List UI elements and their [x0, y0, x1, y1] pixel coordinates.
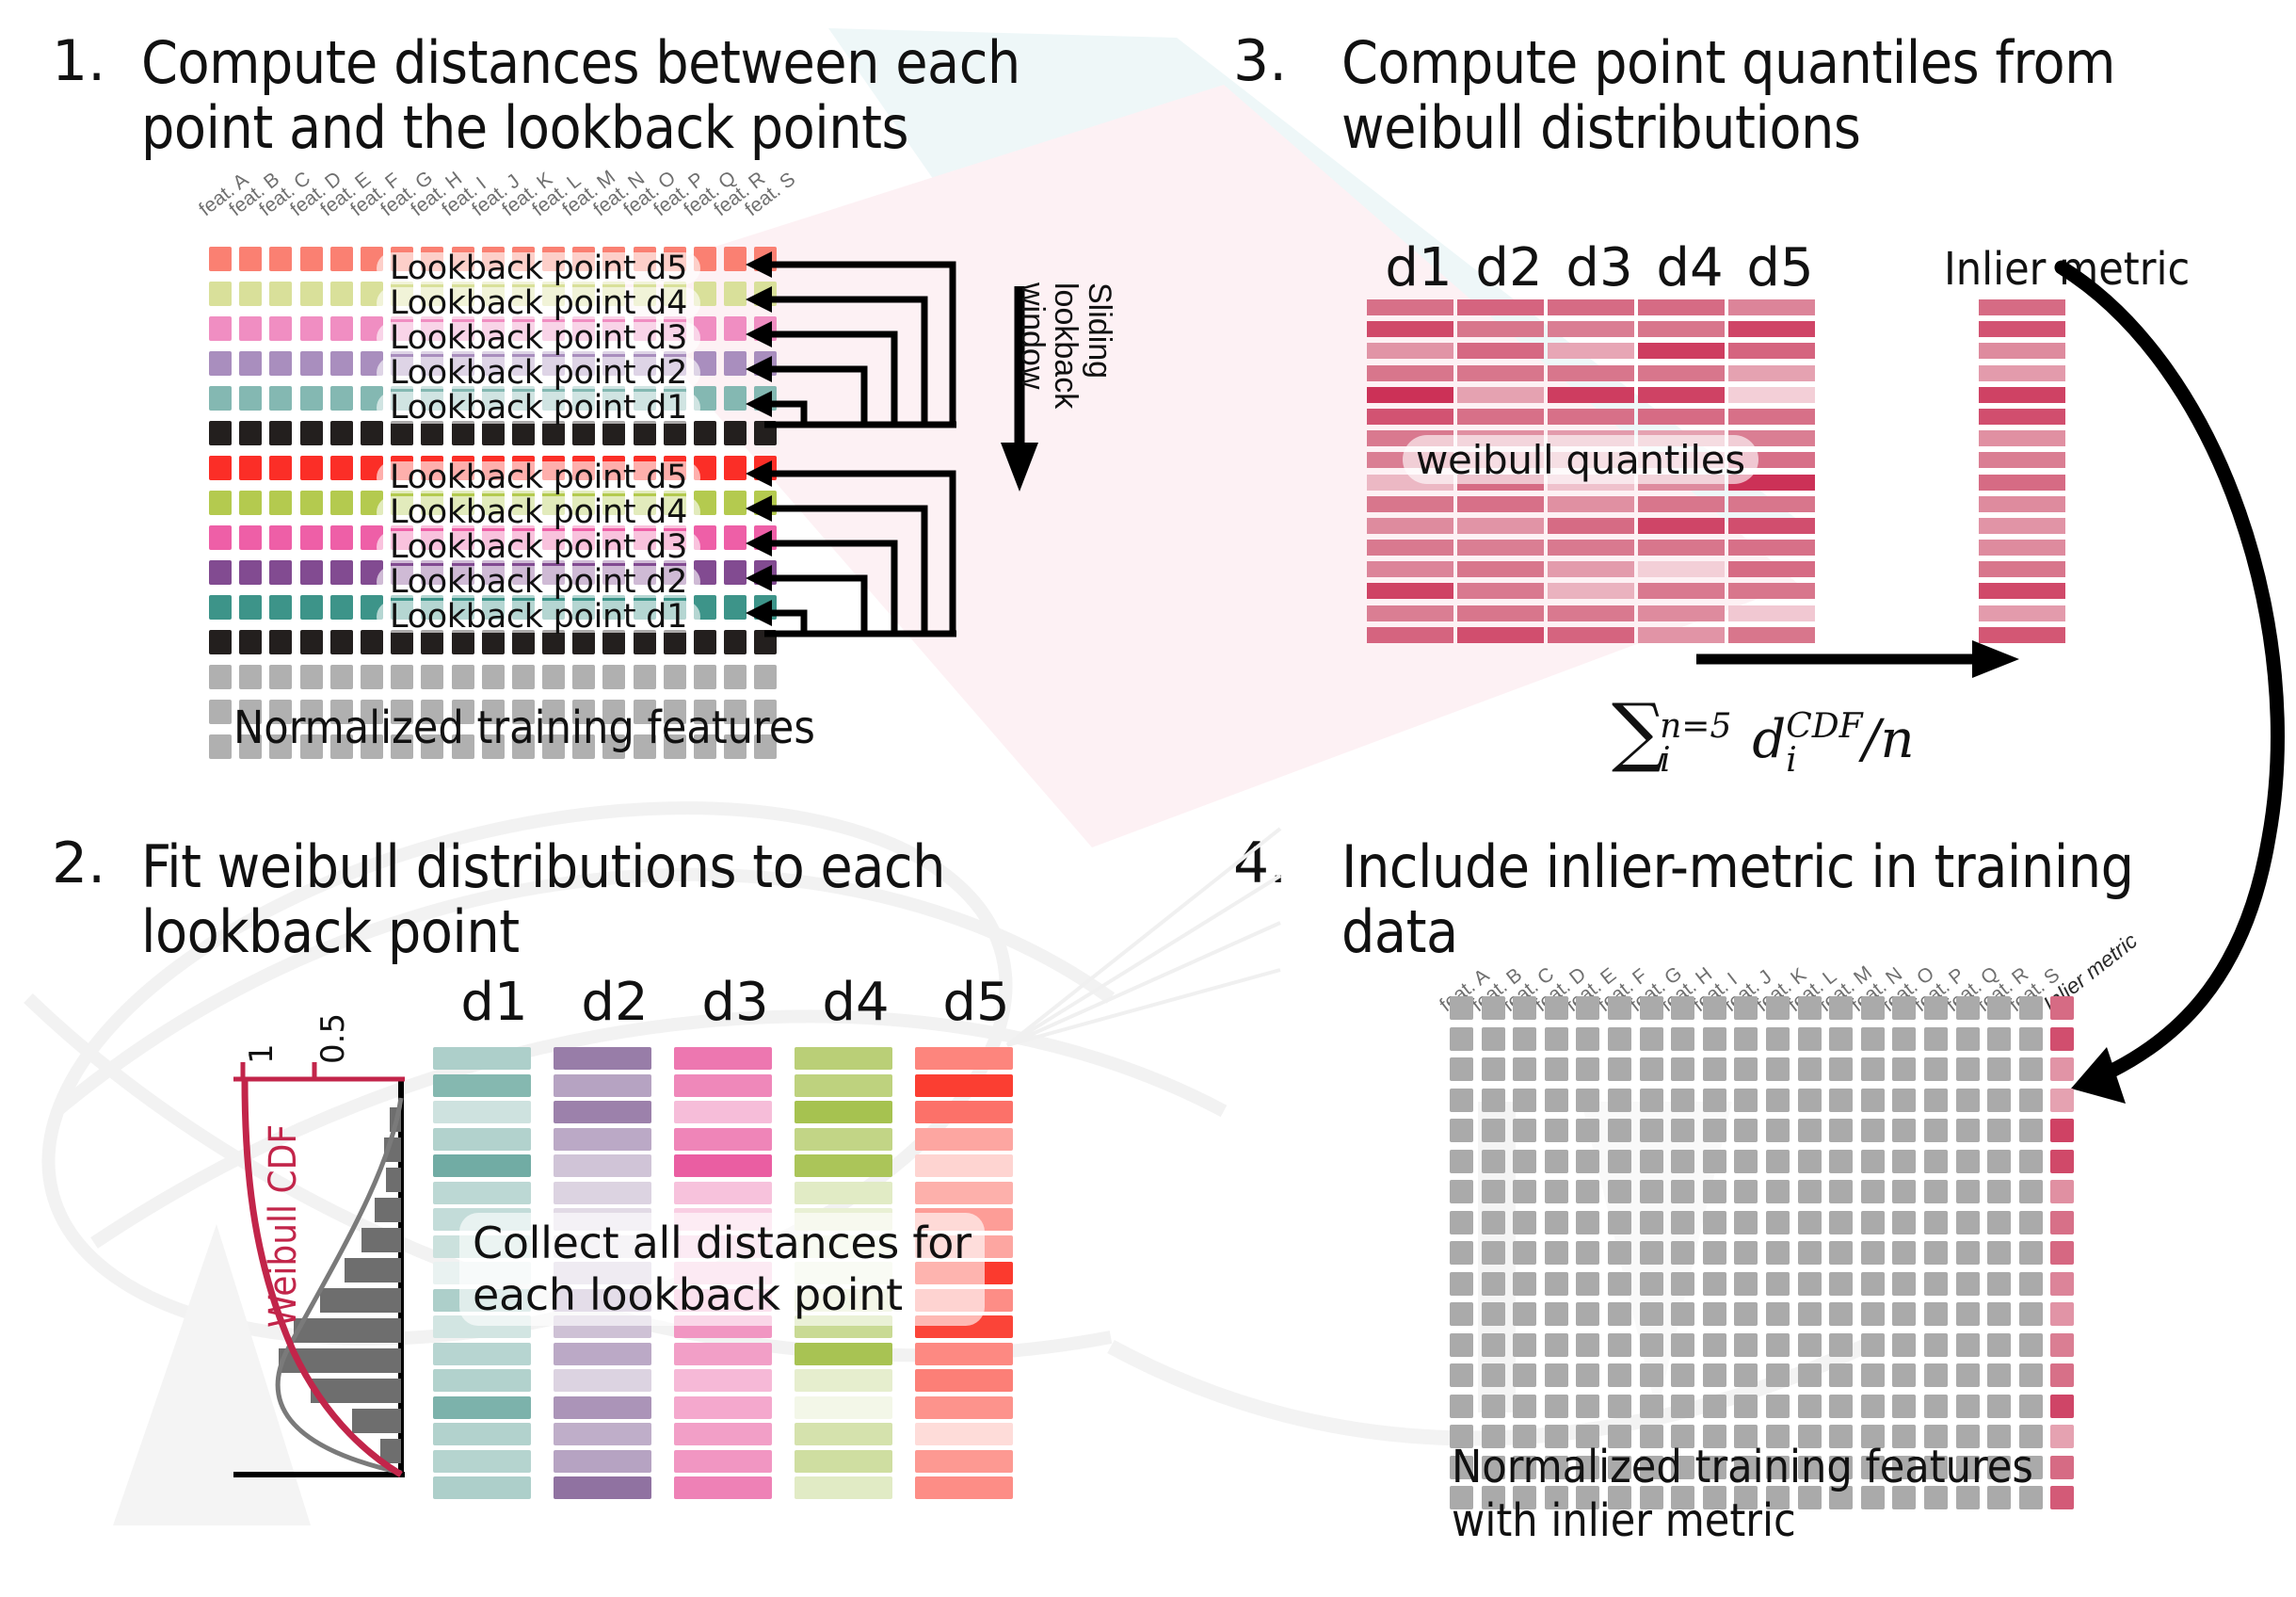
panel4-feature-cell: [1640, 1119, 1663, 1142]
panel4-feature-cell: [1987, 1057, 2011, 1081]
panel4-inlier-cell: [2050, 1180, 2074, 1203]
panel4-feature-cell: [1924, 1363, 1948, 1387]
panel4-feature-cell: [1956, 1027, 1980, 1051]
panel4-feature-cell: [1703, 1363, 1726, 1387]
panel4-feature-cell: [1766, 1057, 1790, 1081]
panel4-feature-cell: [1766, 1363, 1790, 1387]
panel4-feature-cell: [1892, 1057, 1916, 1081]
panel4-feature-cell: [1924, 996, 1948, 1020]
panel4-feature-cell: [1608, 1363, 1631, 1387]
panel4-feature-cell: [1450, 1241, 1473, 1265]
panel4-feature-cell: [1608, 1027, 1631, 1051]
panel4-feature-cell: [1734, 1027, 1758, 1051]
panel4-inlier-cell: [2050, 1241, 2074, 1265]
panel4-feature-cell: [1734, 1395, 1758, 1418]
panel4-feature-cell: [1513, 1180, 1536, 1203]
panel4-feature-cell: [1766, 1241, 1790, 1265]
panel4-feature-cell: [1640, 1211, 1663, 1234]
panel4-feature-cell: [1513, 1241, 1536, 1265]
panel4-feature-cell: [1640, 1302, 1663, 1326]
panel4-feature-cell: [1861, 996, 1885, 1020]
panel4-feature-cell: [2019, 1363, 2043, 1387]
panel4-feature-cell: [1450, 1211, 1473, 1234]
panel4-feature-cell: [1861, 1395, 1885, 1418]
panel4-feature-cell: [1956, 1057, 1980, 1081]
panel4-feature-cell: [1608, 1211, 1631, 1234]
panel4-feature-cell: [1924, 1119, 1948, 1142]
panel4-feature-cell: [1545, 1302, 1568, 1326]
panel4-feature-cell: [1861, 1272, 1885, 1296]
panel4-feature-cell: [1671, 1395, 1694, 1418]
panel4-inlier-cell: [2050, 1027, 2074, 1051]
panel4-feature-cell: [1640, 1363, 1663, 1387]
panel4-feature-cell: [2019, 1089, 2043, 1112]
panel4-feature-cell: [1608, 1119, 1631, 1142]
panel4-feature-cell: [1924, 1211, 1948, 1234]
panel4-feature-cell: [1545, 1395, 1568, 1418]
panel4-feature-cell: [1829, 1057, 1853, 1081]
panel4-feature-cell: [1987, 1180, 2011, 1203]
panel4-feature-cell: [1640, 1272, 1663, 1296]
panel4-feature-cell: [1798, 1027, 1822, 1051]
panel4-feature-cell: [1703, 1272, 1726, 1296]
panel4-feature-cell: [1545, 1057, 1568, 1081]
panel4-feature-cell: [1608, 1089, 1631, 1112]
panel4-feature-cell: [1892, 1119, 1916, 1142]
panel4-feature-cell: [1545, 1180, 1568, 1203]
panel4-feature-cell: [1734, 1241, 1758, 1265]
panel4-feature-cell: [1671, 1150, 1694, 1173]
panel4-inlier-cell: [2050, 996, 2074, 1020]
panel4-feature-cell: [1545, 1241, 1568, 1265]
panel4-feature-cell: [1671, 1241, 1694, 1265]
panel4-feature-cell: [1956, 1241, 1980, 1265]
panel4-feature-cell: [1671, 1333, 1694, 1357]
panel4-feature-cell: [1450, 996, 1473, 1020]
panel4-feature-cell: [1513, 1119, 1536, 1142]
panel4-feature-cell: [1450, 1119, 1473, 1142]
panel4-feature-cell: [1450, 1180, 1473, 1203]
panel4-feature-cell: [1545, 1119, 1568, 1142]
panel4-feature-cell: [1829, 1241, 1853, 1265]
panel4-feature-cell: [1450, 1363, 1473, 1387]
panel4-feature-cell: [1892, 1302, 1916, 1326]
panel4-feature-cell: [1576, 1302, 1599, 1326]
panel4-feature-cell: [1640, 1150, 1663, 1173]
panel4-feature-cell: [1703, 1057, 1726, 1081]
panel4-feature-cell: [1671, 1089, 1694, 1112]
panel4-feature-cell: [1829, 1180, 1853, 1203]
panel4-feature-cell: [1450, 1150, 1473, 1173]
panel4-feature-cell: [1924, 1027, 1948, 1051]
panel4-feature-cell: [2019, 1119, 2043, 1142]
panel4-feature-cell: [1545, 1150, 1568, 1173]
panel4-feature-cell: [1482, 1057, 1505, 1081]
panel4-feature-cell: [1703, 1027, 1726, 1051]
panel4-feature-cell: [1703, 1180, 1726, 1203]
panel4-feature-cell: [1829, 1089, 1853, 1112]
panel4-feature-cell: [1798, 1241, 1822, 1265]
panel4-feature-cell: [1513, 1150, 1536, 1173]
panel4-feature-cell: [1924, 1057, 1948, 1081]
panel4-feature-cell: [1987, 1363, 2011, 1387]
panel4-feature-cell: [1892, 1150, 1916, 1173]
panel4-feature-cell: [2019, 1395, 2043, 1418]
panel4-feature-cell: [1545, 1363, 1568, 1387]
panel4-feature-cell: [1703, 1333, 1726, 1357]
panel4-inlier-cell: [2050, 1425, 2074, 1448]
panel4-caption: Normalized training features with inlier…: [1452, 1441, 2033, 1547]
panel4-feature-cell: [1766, 1211, 1790, 1234]
panel4-feature-cell: [1892, 1180, 1916, 1203]
panel4-feature-cell: [1734, 1272, 1758, 1296]
panel4-feature-cell: [1829, 1150, 1853, 1173]
panel4-feature-cell: [1671, 1180, 1694, 1203]
panel4-feature-cell: [1798, 1150, 1822, 1173]
panel4-feature-cell: [1513, 1333, 1536, 1357]
panel4-feature-cell: [1766, 1119, 1790, 1142]
panel4-feature-cell: [1482, 1395, 1505, 1418]
panel4-feature-cell: [1482, 1211, 1505, 1234]
panel4-feature-cell: [1608, 1057, 1631, 1081]
panel4-feature-cell: [1640, 1057, 1663, 1081]
panel4-feature-cell: [1924, 1395, 1948, 1418]
panel4-feature-cell: [1450, 1395, 1473, 1418]
panel4-feature-cell: [1766, 1089, 1790, 1112]
panel4-feature-cell: [1734, 1119, 1758, 1142]
panel4-inlier-cell: [2050, 1057, 2074, 1081]
panel4-inlier-cell: [2050, 1395, 2074, 1418]
panel4-feature-cell: [2019, 1150, 2043, 1173]
panel4-feature-cell: [1640, 1395, 1663, 1418]
panel4-feature-cell: [1576, 1395, 1599, 1418]
panel4-feature-cell: [1956, 1395, 1980, 1418]
panel4-feature-cell: [1924, 1333, 1948, 1357]
panel4-feature-cell: [1482, 1302, 1505, 1326]
panel4-feature-cell: [1734, 1333, 1758, 1357]
panel4-feature-cell: [1482, 996, 1505, 1020]
panel4-feature-cell: [1798, 1180, 1822, 1203]
panel4-feature-cell: [1892, 1027, 1916, 1051]
panel4-feature-cell: [1766, 1180, 1790, 1203]
panel4-feature-cell: [1640, 996, 1663, 1020]
panel4-feature-cell: [1734, 996, 1758, 1020]
panel4-feature-cell: [1987, 1302, 2011, 1326]
panel4-feature-cell: [2019, 1241, 2043, 1265]
panel4-feature-cell: [1766, 1395, 1790, 1418]
panel4-feature-cell: [1482, 1027, 1505, 1051]
panel4-feature-cell: [1924, 1150, 1948, 1173]
panel4-feature-cell: [2019, 996, 2043, 1020]
panel4-feature-cell: [1545, 1272, 1568, 1296]
panel4-feature-cell: [2019, 1180, 2043, 1203]
panel4-feature-cell: [1703, 1119, 1726, 1142]
panel4-feature-cell: [1671, 1272, 1694, 1296]
panel4-feature-cell: [1956, 1180, 1980, 1203]
panel4-feature-cell: [1734, 1057, 1758, 1081]
panel4-feature-cell: [1861, 1333, 1885, 1357]
panel4-feature-cell: [1924, 1180, 1948, 1203]
panel4-feature-cell: [1987, 1150, 2011, 1173]
panel4-feature-cell: [1513, 1211, 1536, 1234]
panel4-feature-cell: [1482, 1363, 1505, 1387]
panel4-feature-cell: [1608, 1333, 1631, 1357]
panel4-feature-cell: [1861, 1057, 1885, 1081]
panel4-feature-cell: [1576, 1089, 1599, 1112]
panel4-feature-cell: [1671, 1057, 1694, 1081]
panel4-feature-cell: [1829, 1395, 1853, 1418]
panel4-feature-cell: [1798, 1211, 1822, 1234]
panel4-feature-cell: [1482, 1180, 1505, 1203]
panel4-feature-cell: [1703, 1241, 1726, 1265]
panel4-feature-cell: [1450, 1057, 1473, 1081]
panel4-feature-cell: [1640, 1241, 1663, 1265]
panel4-feature-cell: [2019, 1057, 2043, 1081]
panel4-feature-cell: [1513, 1363, 1536, 1387]
panel4-feature-cell: [1798, 1272, 1822, 1296]
panel4-feature-cell: [1798, 1089, 1822, 1112]
panel4-feature-cell: [1576, 1119, 1599, 1142]
panel4-feature-cell: [1987, 1089, 2011, 1112]
panel4-feature-cell: [1608, 1302, 1631, 1326]
panel4-feature-cell: [1576, 1363, 1599, 1387]
panel4-feature-cell: [1513, 1272, 1536, 1296]
panel4-feature-cell: [1608, 1241, 1631, 1265]
panel4-feature-cell: [2019, 1027, 2043, 1051]
panel4-inlier-cell: [2050, 1150, 2074, 1173]
panel4-feature-cell: [1671, 1363, 1694, 1387]
panel4-feature-cell: [1640, 1180, 1663, 1203]
panel4-feature-cell: [1829, 1302, 1853, 1326]
panel4-feature-cell: [1766, 996, 1790, 1020]
panel4-feature-cell: [1987, 1395, 2011, 1418]
panel4-feature-cell: [1576, 1150, 1599, 1173]
panel4-feature-cell: [1608, 1180, 1631, 1203]
panel4-inlier-cell: [2050, 1089, 2074, 1112]
panel4-feature-cell: [1956, 1333, 1980, 1357]
panel4-feature-cell: [1987, 1211, 2011, 1234]
panel4-feature-cell: [1766, 1272, 1790, 1296]
panel4-feature-cell: [1892, 996, 1916, 1020]
panel4-feature-cell: [1608, 996, 1631, 1020]
panel4-feature-cell: [1798, 1333, 1822, 1357]
panel4-feature-cell: [1829, 1363, 1853, 1387]
panel4-feature-cell: [2019, 1272, 2043, 1296]
panel4-feature-cell: [1734, 1180, 1758, 1203]
panel4-inlier-cell: [2050, 1333, 2074, 1357]
panel4-feature-cell: [1545, 1027, 1568, 1051]
panel4-feature-cell: [1829, 1211, 1853, 1234]
panel4-feature-cell: [1513, 1027, 1536, 1051]
panel4-feature-cell: [1987, 1119, 2011, 1142]
panel4-feature-cell: [1608, 1272, 1631, 1296]
panel4-feature-cell: [1861, 1027, 1885, 1051]
panel4-feature-cell: [1734, 1302, 1758, 1326]
panel4-feature-cell: [1956, 1211, 1980, 1234]
panel4-feature-cell: [1798, 1302, 1822, 1326]
panel4-feature-cell: [1576, 1333, 1599, 1357]
panel4-feature-cell: [1734, 1089, 1758, 1112]
panel4-feature-cell: [1861, 1089, 1885, 1112]
panel4-feature-cell: [1608, 1150, 1631, 1173]
panel4-feature-cell: [1956, 1302, 1980, 1326]
panel4-inlier-cell: [2050, 1119, 2074, 1142]
panel4-feature-cell: [1892, 1241, 1916, 1265]
panel4-feature-cell: [1576, 1211, 1599, 1234]
panel4-feature-cell: [1829, 1333, 1853, 1357]
panel4-feature-cell: [1987, 996, 2011, 1020]
panel4-feature-cell: [1576, 996, 1599, 1020]
panel4-feature-cell: [1703, 1395, 1726, 1418]
panel4-feature-cell: [1956, 1119, 1980, 1142]
panel4-feature-cell: [1513, 1395, 1536, 1418]
panel4-feature-cell: [1861, 1363, 1885, 1387]
panel4-feature-cell: [1545, 996, 1568, 1020]
panel4-feature-cell: [1640, 1027, 1663, 1051]
panel4-inlier-cell: [2050, 1211, 2074, 1234]
panel4-feature-cell: [1576, 1241, 1599, 1265]
panel4-feature-cell: [1956, 1089, 1980, 1112]
panel4-feature-cell: [1671, 1119, 1694, 1142]
panel4-feature-cell: [1513, 1302, 1536, 1326]
panel4-feature-cell: [1513, 1057, 1536, 1081]
panel4-feature-cell: [1861, 1119, 1885, 1142]
panel4-feature-cell: [1703, 1150, 1726, 1173]
panel4-feature-cell: [1766, 1333, 1790, 1357]
panel4-inlier-cell: [2050, 1272, 2074, 1296]
panel4-feature-cell: [1987, 1272, 2011, 1296]
panel4-feature-cell: [1829, 1119, 1853, 1142]
panel4-inlier-cell: [2050, 1486, 2074, 1509]
panel4-feature-cell: [1892, 1333, 1916, 1357]
panel4-feature-cell: [1924, 1302, 1948, 1326]
panel4-feature-cell: [1924, 1272, 1948, 1296]
panel4-feature-cell: [1987, 1333, 2011, 1357]
panel4-feature-cell: [1924, 1241, 1948, 1265]
panel-4: feat. Afeat. Bfeat. Cfeat. Dfeat. Efeat.…: [0, 0, 2296, 1597]
panel4-feature-cell: [1861, 1241, 1885, 1265]
panel4-feature-cell: [1956, 1272, 1980, 1296]
panel4-feature-cell: [1892, 1272, 1916, 1296]
panel4-feature-cell: [2019, 1333, 2043, 1357]
panel4-feature-cell: [1576, 1180, 1599, 1203]
panel4-feature-cell: [1798, 1363, 1822, 1387]
panel4-feature-cell: [1513, 1089, 1536, 1112]
panel4-feature-cell: [1861, 1211, 1885, 1234]
panel4-feature-cell: [1545, 1333, 1568, 1357]
panel4-feature-cell: [1671, 996, 1694, 1020]
panel4-feature-cell: [1640, 1333, 1663, 1357]
panel4-feature-cell: [1703, 1211, 1726, 1234]
panel4-feature-cell: [1892, 1089, 1916, 1112]
panel4-feature-cell: [1482, 1089, 1505, 1112]
panel4-inlier-cell: [2050, 1456, 2074, 1479]
panel4-feature-cell: [1608, 1395, 1631, 1418]
panel4-feature-cell: [1482, 1150, 1505, 1173]
panel4-feature-cell: [1576, 1272, 1599, 1296]
panel4-feature-cell: [1450, 1333, 1473, 1357]
panel4-feature-cell: [1482, 1119, 1505, 1142]
panel4-feature-cell: [1450, 1027, 1473, 1051]
panel4-feature-cell: [1861, 1180, 1885, 1203]
panel4-feature-cell: [1734, 1211, 1758, 1234]
panel4-feature-cell: [1734, 1363, 1758, 1387]
panel4-feature-cell: [1482, 1241, 1505, 1265]
panel4-feature-cell: [1450, 1302, 1473, 1326]
panel4-feature-cell: [1671, 1027, 1694, 1051]
panel4-cell-grid: [1450, 996, 2074, 1509]
panel4-feature-cell: [1671, 1211, 1694, 1234]
panel4-feature-cell: [1703, 1089, 1726, 1112]
panel4-feature-cell: [1892, 1395, 1916, 1418]
panel4-feature-cell: [1513, 996, 1536, 1020]
panel4-inlier-cell: [2050, 1363, 2074, 1387]
panel4-feature-cell: [1545, 1211, 1568, 1234]
panel4-feature-cell: [1987, 1241, 2011, 1265]
panel4-feature-cell: [1482, 1272, 1505, 1296]
panel4-feature-cell: [2019, 1211, 2043, 1234]
panel4-feature-cell: [1766, 1027, 1790, 1051]
panel4-feature-cell: [1829, 1272, 1853, 1296]
panel4-feature-cell: [1671, 1302, 1694, 1326]
panel4-feature-cell: [1956, 1150, 1980, 1173]
panel4-feature-cell: [1861, 1150, 1885, 1173]
panel4-feature-cell: [1734, 1150, 1758, 1173]
panel4-feature-cell: [1829, 996, 1853, 1020]
panel4-feature-cell: [1892, 1363, 1916, 1387]
panel4-feature-cell: [1892, 1211, 1916, 1234]
panel4-feature-cell: [1829, 1027, 1853, 1051]
panel4-feature-cell: [1956, 996, 1980, 1020]
panel4-inlier-cell: [2050, 1302, 2074, 1326]
panel4-feature-cell: [1798, 1119, 1822, 1142]
panel4-feature-cell: [1987, 1027, 2011, 1051]
panel4-feature-cell: [1545, 1089, 1568, 1112]
panel4-feature-cell: [1450, 1089, 1473, 1112]
panel4-feature-cell: [1924, 1089, 1948, 1112]
panel4-feature-cell: [2019, 1302, 2043, 1326]
panel4-feature-cell: [1703, 1302, 1726, 1326]
panel4-feature-cell: [1861, 1302, 1885, 1326]
panel4-feature-cell: [1766, 1302, 1790, 1326]
panel4-feature-cell: [1450, 1272, 1473, 1296]
panel4-feature-cell: [1798, 1057, 1822, 1081]
panel4-feature-cell: [1703, 996, 1726, 1020]
panel4-feature-cell: [1576, 1057, 1599, 1081]
panel4-feature-cell: [1640, 1089, 1663, 1112]
panel4-feature-cell: [1798, 1395, 1822, 1418]
panel4-feature-cell: [1956, 1363, 1980, 1387]
panel4-feature-cell: [1798, 996, 1822, 1020]
panel4-feature-cell: [1766, 1150, 1790, 1173]
panel4-feature-cell: [1576, 1027, 1599, 1051]
panel4-feature-cell: [1482, 1333, 1505, 1357]
